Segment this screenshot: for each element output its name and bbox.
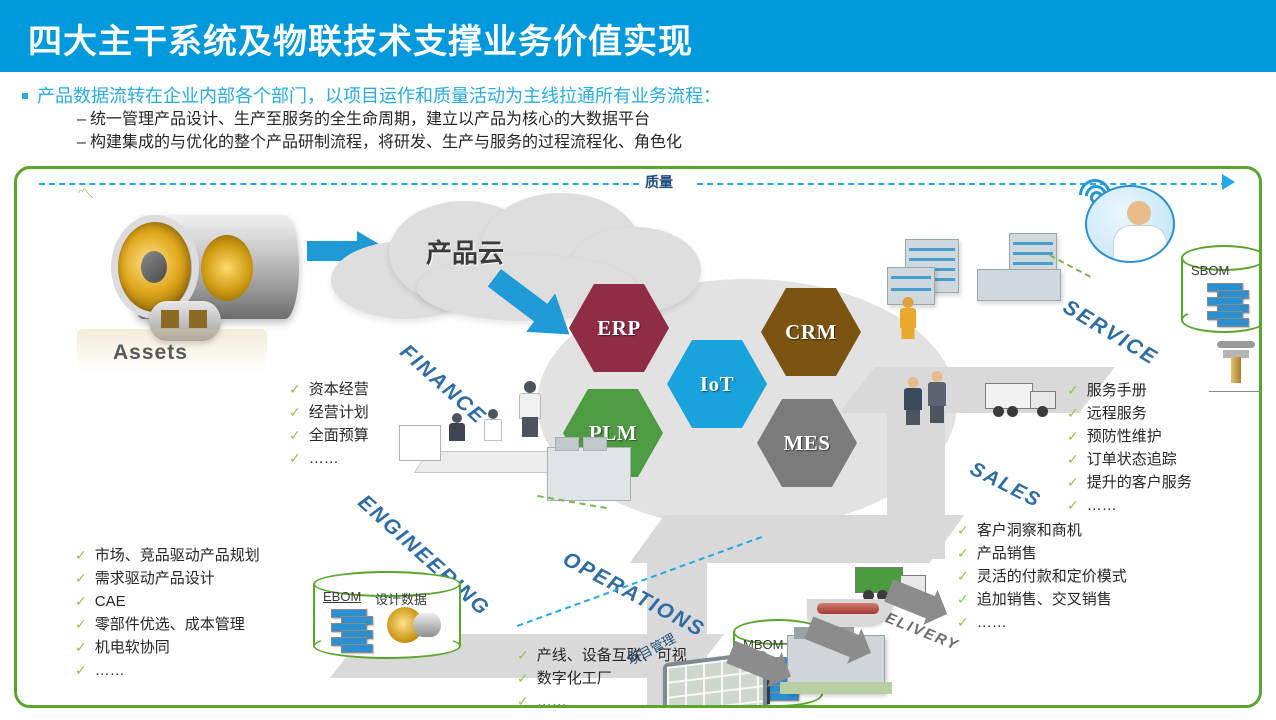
check-icon: ✓ [1067, 402, 1079, 425]
check-icon: ✓ [75, 544, 87, 567]
checklist-service: ✓服务手册✓远程服务✓预防性维护✓订单状态追踪✓提升的客户服务✓…… [1067, 379, 1192, 517]
cylinder-sbom-label: SBOM [1191, 263, 1229, 278]
check-icon: ✓ [1067, 425, 1079, 448]
checklist-item-label: 提升的客户服务 [1087, 471, 1192, 494]
cloud-label: 产品云 [426, 233, 504, 270]
check-icon: ✓ [1067, 494, 1079, 517]
sub-bullet-1-text: 统一管理产品设计、生产至服务的全生命周期，建立以产品为核心的大数据平台 [90, 108, 650, 131]
check-icon: ✓ [289, 447, 301, 470]
checklist-item-label: 全面预算 [309, 424, 369, 447]
checklist-item-label: 零部件优选、成本管理 [95, 613, 245, 636]
checklist-item: ✓订单状态追踪 [1067, 448, 1192, 471]
component-part-icon [1209, 337, 1262, 397]
check-icon: ✓ [957, 611, 969, 634]
engine-thumbnail-icon [383, 603, 443, 647]
checklist-item-label: 机电软协同 [95, 636, 170, 659]
checklist-item-label: 服务手册 [1087, 379, 1147, 402]
hexagon-mes-label: MES [783, 431, 830, 456]
plant-vent-icon [555, 437, 579, 451]
bom-bars-icon [1203, 283, 1259, 327]
warehouse-icon [977, 269, 1061, 301]
quality-arrow-icon [1222, 174, 1235, 190]
checklist-item-label: 远程服务 [1087, 402, 1147, 425]
checklist-item: ✓…… [75, 659, 260, 682]
check-icon: ✓ [957, 588, 969, 611]
plant-building-icon [547, 447, 631, 501]
checklist-item-label: …… [1087, 494, 1117, 517]
check-icon: ✓ [289, 401, 301, 424]
cylinder-ebom: EBOM 设计数据 [313, 571, 461, 659]
checklist-item-label: 订单状态追踪 [1087, 448, 1177, 471]
checklist-item: ✓CAE [75, 590, 260, 613]
department-finance: FINANCE [395, 340, 491, 430]
checklist-item-label: …… [537, 690, 567, 708]
checklist-item: ✓…… [517, 690, 687, 708]
checklist-item: ✓数字化工厂 [517, 667, 687, 690]
checklist-item-label: 产品销售 [977, 542, 1037, 565]
meeting-person-icon [447, 413, 467, 447]
diagram-frame: 质量 〽 Assets 产品云 ERP CRM [14, 166, 1262, 708]
presenter-person-icon [517, 381, 543, 437]
checklist-item-label: 灵活的付款和定价模式 [977, 565, 1127, 588]
cylinder-sbom: SBOM [1181, 245, 1262, 333]
checklist-item-label: 资本经营 [309, 378, 369, 401]
sub-bullet-2-text: 构建集成的与优化的整个产品研制流程，将研发、生产与服务的过程流程化、角色化 [90, 131, 682, 154]
dash-icon: – [77, 108, 90, 131]
slide-canvas: 四大主干系统及物联技术支撑业务价值实现 产品数据流转在企业内部各个部门，以项目运… [0, 0, 1276, 720]
bullet-square-icon [22, 93, 28, 99]
hexagon-erp-label: ERP [597, 316, 641, 341]
check-icon: ✓ [289, 424, 301, 447]
flipchart-icon [399, 425, 441, 461]
checklist-item: ✓市场、竞品驱动产品规划 [75, 544, 260, 567]
assets-label: Assets [113, 341, 188, 365]
page-title: 四大主干系统及物联技术支撑业务价值实现 [28, 14, 693, 63]
check-icon: ✓ [517, 667, 529, 690]
checklist-item-label: 客户洞察和商机 [977, 519, 1082, 542]
bullet-block: 产品数据流转在企业内部各个部门，以项目运作和质量活动为主线拉通所有业务流程： –… [22, 84, 1122, 154]
check-icon: ✓ [289, 378, 301, 401]
checklist-item-label: …… [977, 611, 1007, 634]
checklist-item: ✓…… [289, 447, 369, 470]
checklist-finance: ✓资本经营✓经营计划✓全面预算✓…… [289, 378, 369, 470]
check-icon: ✓ [75, 613, 87, 636]
checklist-item: ✓预防性维护 [1067, 425, 1192, 448]
checklist-item: ✓零部件优选、成本管理 [75, 613, 260, 636]
main-bullet: 产品数据流转在企业内部各个部门，以项目运作和质量活动为主线拉通所有业务流程： [22, 84, 1122, 108]
checklist-item: ✓全面预算 [289, 424, 369, 447]
checklist-item-label: 数字化工厂 [537, 667, 612, 690]
check-icon: ✓ [1067, 448, 1079, 471]
checklist-item: ✓灵活的付款和定价模式 [957, 565, 1127, 588]
sub-bullet-1: – 统一管理产品设计、生产至服务的全生命周期，建立以产品为核心的大数据平台 [77, 108, 1122, 131]
hexagon-crm-label: CRM [785, 320, 837, 345]
checklist-item: ✓产品销售 [957, 542, 1127, 565]
customer-icon [925, 371, 949, 423]
worker-person-icon [897, 297, 919, 339]
checklist-item-label: 经营计划 [309, 401, 369, 424]
plant-vent-icon [583, 437, 607, 451]
checklist-item-label: …… [95, 659, 125, 682]
checklist-item: ✓…… [1067, 494, 1192, 517]
check-icon: ✓ [75, 590, 87, 613]
checklist-item: ✓客户洞察和商机 [957, 519, 1127, 542]
checklist-item: ✓经营计划 [289, 401, 369, 424]
checklist-item: ✓需求驱动产品设计 [75, 567, 260, 590]
check-icon: ✓ [1067, 471, 1079, 494]
service-truck-icon [985, 381, 1059, 421]
bom-bars-icon [327, 609, 379, 653]
quality-line-right [697, 183, 1227, 185]
check-icon: ✓ [957, 565, 969, 588]
checklist-item-label: …… [309, 447, 339, 470]
dash-icon: – [77, 131, 90, 154]
department-service: SERVICE [1058, 295, 1161, 370]
checklist-item-label: 市场、竞品驱动产品规划 [95, 544, 260, 567]
salesperson-icon [901, 377, 925, 425]
sub-bullet-2: – 构建集成的与优化的整个产品研制流程，将研发、生产与服务的过程流程化、角色化 [77, 131, 1122, 154]
checklist-item: ✓提升的客户服务 [1067, 471, 1192, 494]
main-bullet-text: 产品数据流转在企业内部各个部门，以项目运作和质量活动为主线拉通所有业务流程： [37, 84, 721, 108]
meeting-person-icon [483, 409, 503, 445]
cylinder-ebom-label: EBOM [323, 589, 361, 604]
checklist-item: ✓追加销售、交叉销售 [957, 588, 1127, 611]
quality-label: 质量 [645, 172, 673, 192]
check-icon: ✓ [75, 567, 87, 590]
checklist-sales: ✓客户洞察和商机✓产品销售✓灵活的付款和定价模式✓追加销售、交叉销售✓…… [957, 519, 1127, 634]
check-icon: ✓ [957, 519, 969, 542]
quality-line-left [39, 183, 639, 185]
hexagon-iot-label: IoT [700, 372, 734, 397]
checklist-item: ✓资本经营 [289, 378, 369, 401]
check-icon: ✓ [517, 644, 529, 667]
checklist-item: ✓机电软协同 [75, 636, 260, 659]
checklist-item-label: 需求驱动产品设计 [95, 567, 215, 590]
check-icon: ✓ [1067, 379, 1079, 402]
checklist-item: ✓服务手册 [1067, 379, 1192, 402]
checklist-item-label: 追加销售、交叉销售 [977, 588, 1112, 611]
checklist-item-label: 预防性维护 [1087, 425, 1162, 448]
checklist-item: ✓远程服务 [1067, 402, 1192, 425]
checklist-engineering: ✓市场、竞品驱动产品规划✓需求驱动产品设计✓CAE✓零部件优选、成本管理✓机电软… [75, 544, 260, 682]
check-icon: ✓ [517, 690, 529, 708]
check-icon: ✓ [75, 659, 87, 682]
support-agent-icon [1085, 185, 1175, 263]
check-icon: ✓ [957, 542, 969, 565]
checklist-item: ✓…… [957, 611, 1127, 634]
check-icon: ✓ [75, 636, 87, 659]
checklist-item-label: CAE [95, 590, 126, 613]
